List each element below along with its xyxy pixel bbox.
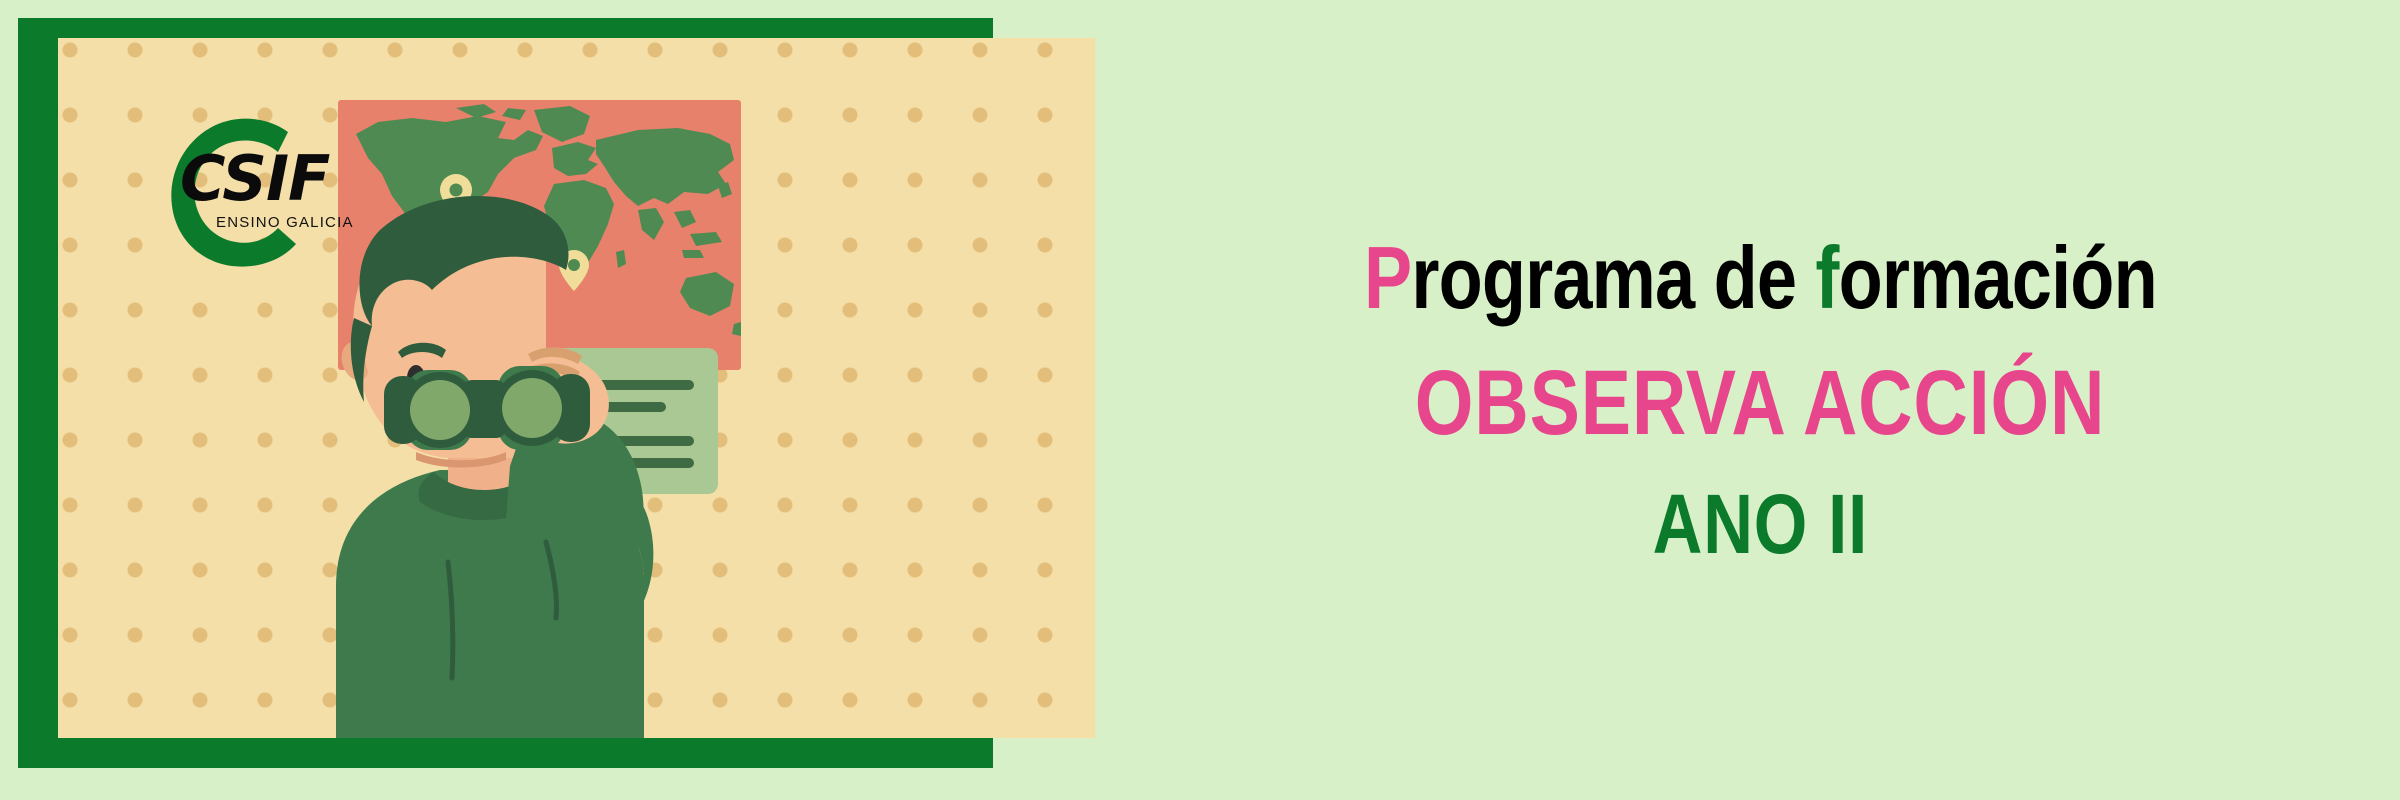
csif-subtitle: ENSINO GALICIA <box>216 214 354 231</box>
headline-initial-f: f <box>1815 228 1838 327</box>
promo-banner: CSIF ENSINO GALICIA Programa de formació… <box>0 0 2400 800</box>
headline-region: Programa de formación OBSERVA ACCIÓN ANO… <box>1120 0 2400 800</box>
headline-line1-end: ormación <box>1838 228 2156 327</box>
headline-line-1: Programa de formación <box>1364 227 2157 329</box>
illustration-region: CSIF ENSINO GALICIA <box>0 0 1120 800</box>
headline-line1-mid: rograma de <box>1411 228 1815 327</box>
csif-wordmark: CSIF <box>180 148 329 210</box>
cream-dotted-panel: CSIF ENSINO GALICIA <box>58 38 1095 738</box>
headline-initial-p: P <box>1364 228 1411 327</box>
headline-line-3: ANO II <box>1652 476 1867 573</box>
headline-line-2: OBSERVA ACCIÓN <box>1415 351 2106 456</box>
csif-logo: CSIF ENSINO GALICIA <box>138 110 348 270</box>
